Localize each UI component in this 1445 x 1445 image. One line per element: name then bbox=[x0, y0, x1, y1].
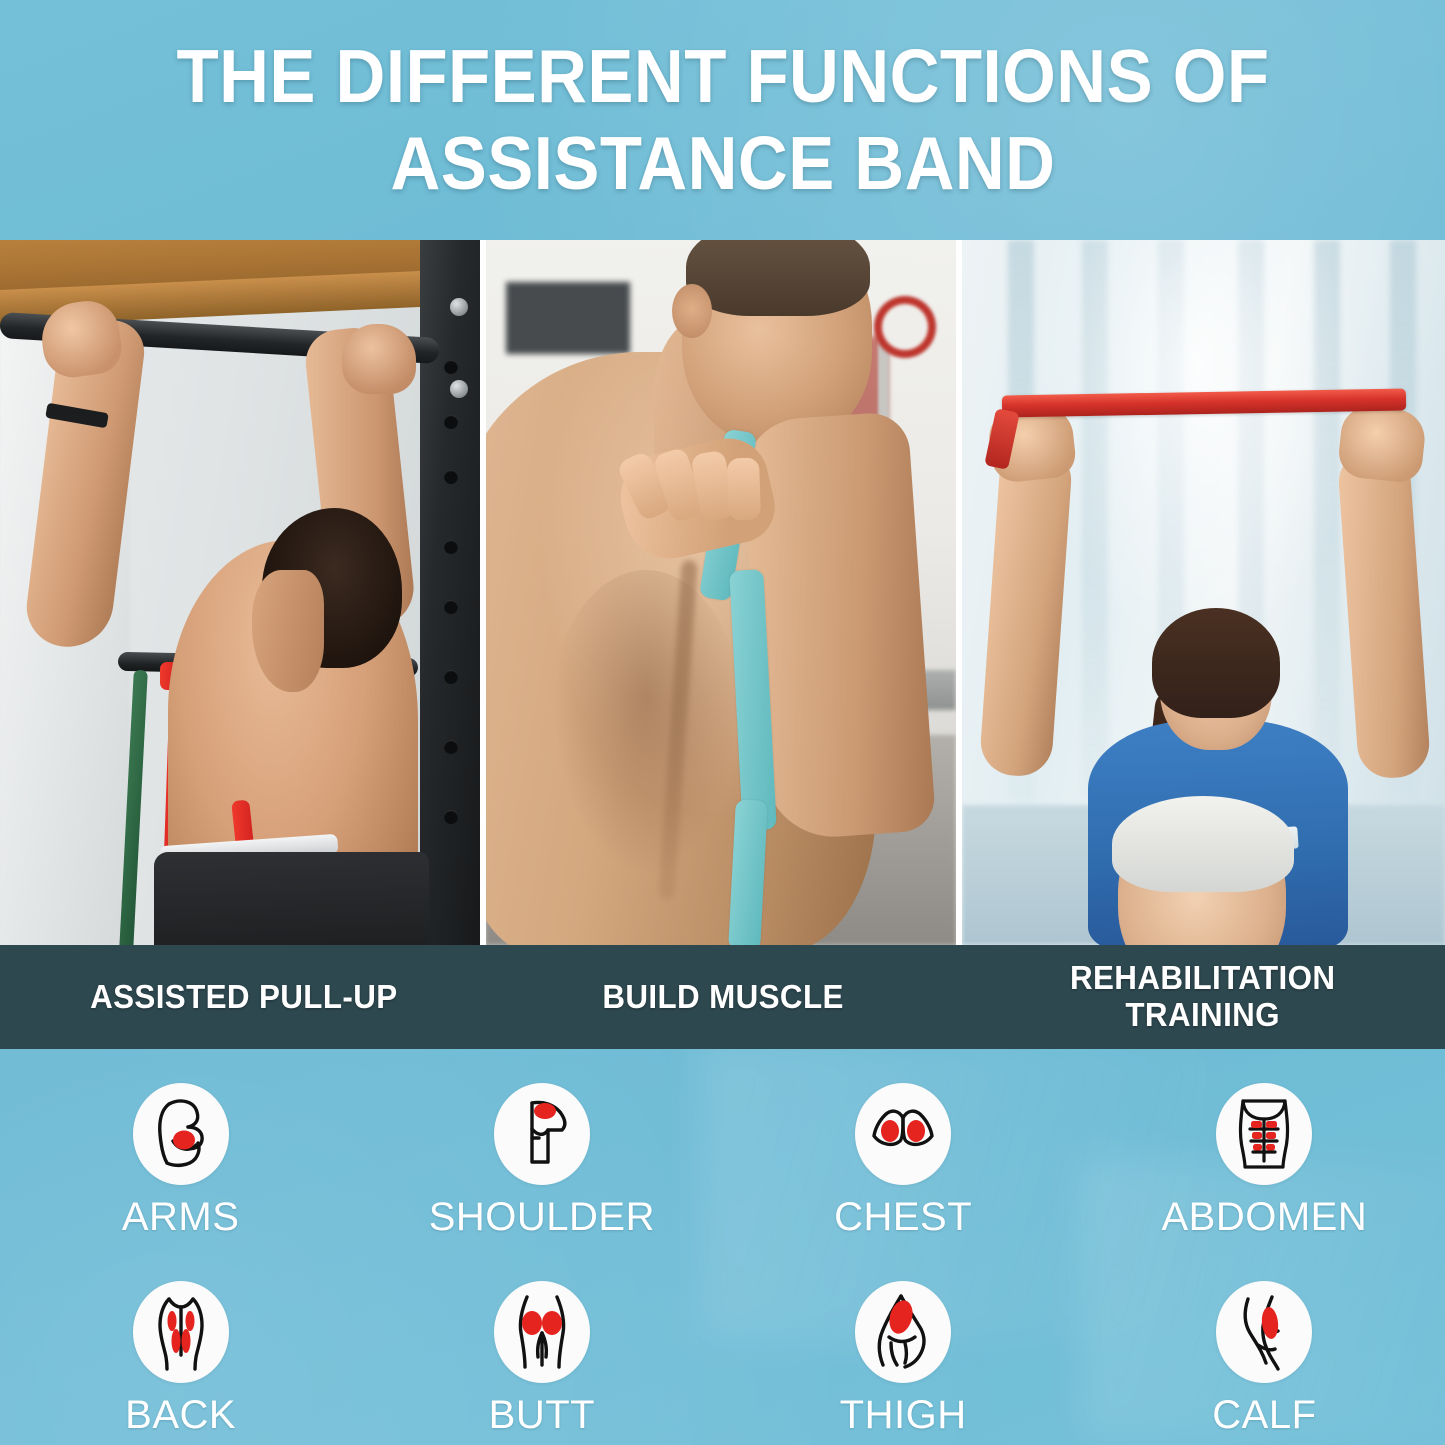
muscle-group-label: CALF bbox=[1212, 1395, 1316, 1435]
lat-muscle-shading bbox=[546, 570, 746, 890]
muscle-group-label: THIGH bbox=[840, 1395, 967, 1435]
chest-icon bbox=[855, 1083, 951, 1185]
caption-label: ASSISTED PULL-UP bbox=[90, 979, 397, 1016]
muscle-group-label: BUTT bbox=[489, 1395, 595, 1435]
therapist-hair bbox=[1152, 608, 1280, 718]
caption-rehabilitation-training: REHABILITATION TRAINING bbox=[960, 945, 1445, 1049]
muscle-group-thigh: THIGH bbox=[723, 1247, 1084, 1445]
infographic-poster: THE DIFFERENT FUNCTIONS OF ASSISTANCE BA… bbox=[0, 0, 1445, 1445]
athlete-hair bbox=[686, 240, 870, 316]
back-icon bbox=[133, 1281, 229, 1383]
athlete-shorts bbox=[154, 852, 429, 945]
muscle-group-chest: CHEST bbox=[723, 1049, 1084, 1247]
caption-assisted-pull-up: ASSISTED PULL-UP bbox=[0, 945, 487, 1049]
caption-build-muscle: BUILD MUSCLE bbox=[487, 945, 960, 1049]
muscle-group-calf: CALF bbox=[1084, 1247, 1445, 1445]
photo-caption-band: ASSISTED PULL-UP BUILD MUSCLE REHABILITA… bbox=[0, 945, 1445, 1049]
abdomen-icon bbox=[1216, 1083, 1312, 1185]
photo-assisted-pull-up bbox=[0, 240, 480, 945]
caption-label: BUILD MUSCLE bbox=[603, 979, 844, 1016]
patient-right-fist bbox=[1336, 404, 1427, 484]
athlete-right-hand bbox=[342, 324, 416, 394]
athlete-ear bbox=[672, 284, 712, 338]
photo-build-muscle bbox=[486, 240, 956, 945]
page-title: THE DIFFERENT FUNCTIONS OF ASSISTANCE BA… bbox=[121, 33, 1324, 207]
calf-icon bbox=[1216, 1281, 1312, 1383]
glutes-icon bbox=[494, 1281, 590, 1383]
muscle-group-label: ARMS bbox=[122, 1197, 240, 1237]
muscle-group-grid: ARMS SHOULDER bbox=[0, 1049, 1445, 1445]
shoulder-icon bbox=[494, 1083, 590, 1185]
window-light bbox=[1032, 240, 1362, 660]
photo-strip bbox=[0, 240, 1445, 945]
speed-limit-sign bbox=[874, 296, 936, 358]
header: THE DIFFERENT FUNCTIONS OF ASSISTANCE BA… bbox=[0, 0, 1445, 240]
caption-label: REHABILITATION TRAINING bbox=[1070, 960, 1335, 1034]
muscle-group-label: BACK bbox=[125, 1395, 236, 1435]
thigh-icon bbox=[855, 1281, 951, 1383]
muscle-group-shoulder: SHOULDER bbox=[361, 1049, 722, 1247]
muscle-group-label: ABDOMEN bbox=[1162, 1197, 1368, 1237]
photo-rehabilitation-training bbox=[962, 240, 1445, 945]
muscle-group-label: SHOULDER bbox=[429, 1197, 655, 1237]
muscle-group-abdomen: ABDOMEN bbox=[1084, 1049, 1445, 1247]
background-panel bbox=[506, 282, 630, 354]
muscle-group-label: CHEST bbox=[834, 1197, 972, 1237]
muscle-group-butt: BUTT bbox=[361, 1247, 722, 1445]
bicep-icon bbox=[133, 1083, 229, 1185]
patient-hair bbox=[1112, 796, 1294, 892]
muscle-group-arms: ARMS bbox=[0, 1049, 361, 1247]
muscle-group-back: BACK bbox=[0, 1247, 361, 1445]
